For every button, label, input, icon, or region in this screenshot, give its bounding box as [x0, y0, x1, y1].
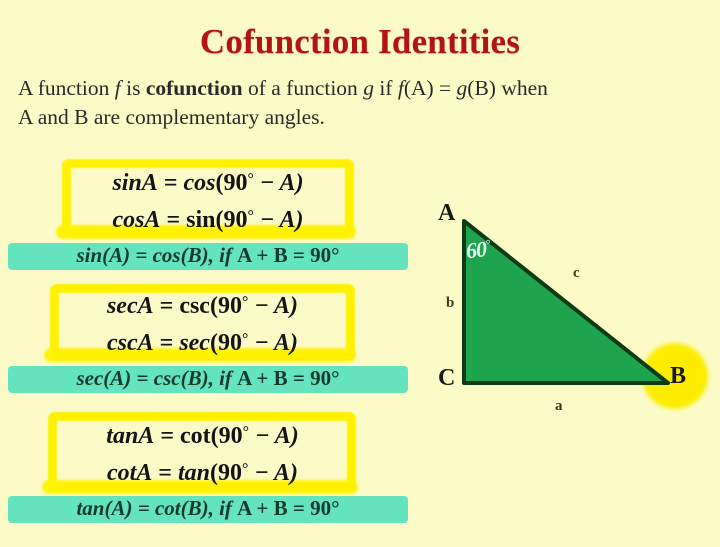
intro-seg-5: (A) = — [404, 76, 457, 100]
formula-rhs-tail: − A) — [254, 170, 304, 196]
formula-rhs-tail: − A) — [254, 207, 304, 233]
formula-rhs-arg: (90 — [210, 460, 242, 486]
conclusion-condition: A + B = 90° — [237, 243, 339, 267]
formula-line-2: cosA = sin(90° − A) — [62, 200, 354, 237]
formula-lhs: cosA — [112, 207, 160, 233]
intro-seg-6: (B) when — [467, 76, 548, 100]
formula-lhs: cscA — [107, 330, 154, 356]
intro-term-cofunction: cofunction — [146, 76, 243, 100]
side-label-b: b — [446, 295, 454, 312]
conclusion-condition: A + B = 90° — [237, 496, 339, 520]
formula-line-1: secA = csc(90° − A) — [50, 286, 355, 323]
conclusion-line: sin(A) = cos(B), if A + B = 90° — [8, 241, 408, 270]
formula-rhs-arg: (90 — [215, 207, 247, 233]
formula-line-1: sinA = cos(90° − A) — [62, 163, 354, 200]
slide-canvas: Cofunction Identities A function f is co… — [0, 0, 720, 547]
formula-rhs-tail: − A) — [248, 330, 298, 356]
formula-rhs-arg: (90 — [211, 423, 243, 449]
vertex-label-c: C — [438, 365, 455, 392]
formula-lhs: cotA — [107, 460, 152, 486]
intro-line-2: A and B are complementary angles. — [18, 105, 325, 129]
page-title: Cofunction Identities — [0, 22, 720, 62]
formula-lhs: secA — [107, 293, 154, 319]
formula-lhs: sinA — [112, 170, 157, 196]
intro-var-g-2: g — [457, 76, 468, 100]
formula-rhs-function: cot — [180, 423, 211, 449]
formula-rhs-tail: − A) — [248, 293, 298, 319]
conclusion-identity: sin(A) = cos(B) — [76, 243, 208, 267]
formula-rhs-arg: (90 — [216, 170, 248, 196]
vertex-label-b: B — [670, 363, 686, 390]
intro-paragraph: A function f is cofunction of a function… — [18, 74, 708, 132]
intro-var-g-1: g — [363, 76, 374, 100]
triangle-shape — [420, 185, 710, 420]
formula-line-2: cotA = tan(90° − A) — [50, 453, 355, 490]
formula-line-2: cscA = sec(90° − A) — [50, 323, 355, 360]
formula-equals: = — [160, 330, 174, 356]
conclusion-line: tan(A) = cot(B), if A + B = 90° — [8, 494, 408, 523]
conclusion-connector: , if — [209, 243, 238, 267]
intro-seg-1: A function — [18, 76, 115, 100]
conclusion-identity: tan(A) = cot(B) — [76, 496, 208, 520]
intro-seg-2: is — [121, 76, 146, 100]
triangle-polygon — [464, 221, 668, 383]
angle-value: 60 — [465, 236, 488, 263]
formula-equals: = — [158, 460, 172, 486]
formula-rhs-function: sin — [186, 207, 215, 233]
formula-rhs-arg: (90 — [210, 293, 242, 319]
vertex-label-a: A — [438, 200, 455, 227]
formula-equals: = — [160, 423, 174, 449]
formula-lhs: tanA — [106, 423, 154, 449]
side-label-a: a — [555, 398, 563, 415]
conclusion-condition: A + B = 90° — [237, 366, 339, 390]
formula-rhs-function: cos — [184, 170, 216, 196]
formula-rhs-arg: (90 — [210, 330, 242, 356]
formula-rhs-function: csc — [179, 293, 210, 319]
formula-block: tanA = cot(90° − A) cotA = tan(90° − A) — [50, 416, 355, 490]
angle-label-60: 60° — [465, 236, 491, 264]
intro-seg-4: if — [374, 76, 398, 100]
formula-equals: = — [164, 170, 178, 196]
formula-block: sinA = cos(90° − A) cosA = sin(90° − A) — [62, 163, 354, 237]
intro-seg-3: of a function — [243, 76, 364, 100]
formula-rhs-function: sec — [179, 330, 210, 356]
conclusion-line: sec(A) = csc(B), if A + B = 90° — [8, 364, 408, 393]
formula-rhs-tail: − A) — [249, 423, 299, 449]
formula-block: secA = csc(90° − A) cscA = sec(90° − A) — [50, 286, 355, 360]
right-triangle-diagram: 60° A B C a b c — [420, 185, 710, 420]
formula-rhs-tail: − A) — [248, 460, 298, 486]
formula-line-1: tanA = cot(90° − A) — [50, 416, 355, 453]
formula-equals: = — [160, 293, 174, 319]
formula-rhs-function: tan — [178, 460, 210, 486]
conclusion-connector: , if — [209, 366, 238, 390]
formula-equals: = — [166, 207, 180, 233]
conclusion-identity: sec(A) = csc(B) — [76, 366, 208, 390]
side-label-c: c — [573, 265, 580, 282]
conclusion-connector: , if — [209, 496, 238, 520]
